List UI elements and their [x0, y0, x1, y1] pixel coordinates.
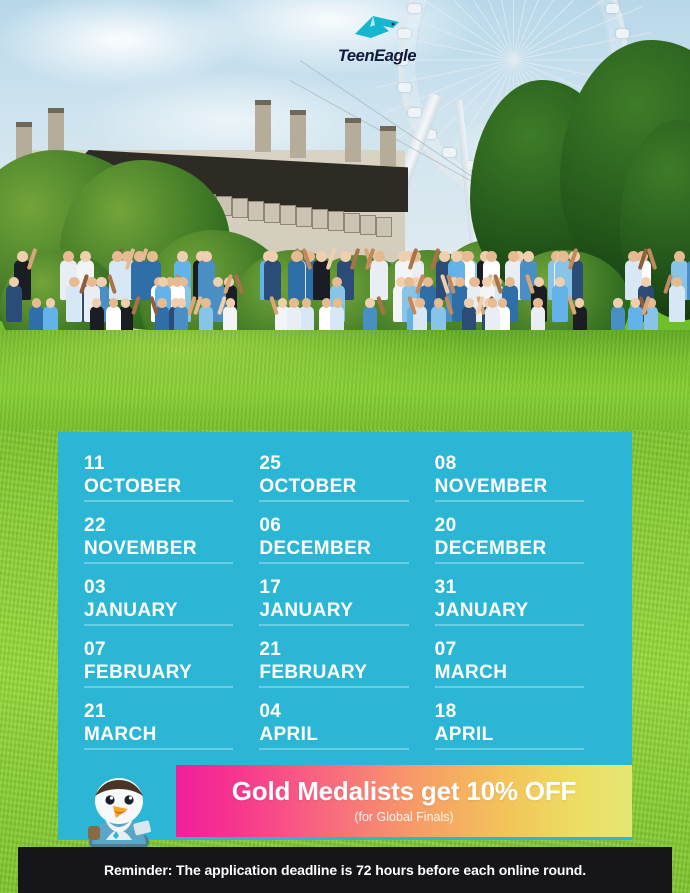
person: [66, 258, 83, 322]
date-day: 25: [259, 454, 434, 474]
date-separator: [84, 562, 233, 564]
promo-banner: Gold Medalists get 10% OFF (for Global F…: [176, 765, 632, 837]
chimney: [380, 126, 396, 166]
date-day: 20: [435, 516, 610, 536]
date-month: APRIL: [259, 724, 434, 746]
date-month: OCTOBER: [259, 476, 434, 498]
promo-subtitle: (for Global Finals): [354, 810, 453, 824]
schedule-date-cell: 04APRIL: [259, 696, 434, 758]
reminder-bar: Reminder: The application deadline is 72…: [18, 847, 672, 893]
date-separator: [435, 686, 584, 688]
date-month: FEBRUARY: [84, 662, 259, 684]
schedule-date-cell: 08NOVEMBER: [435, 448, 610, 510]
date-month: DECEMBER: [435, 538, 610, 560]
date-day: 07: [84, 640, 259, 660]
date-day: 03: [84, 578, 259, 598]
crowd-of-students: [0, 222, 690, 340]
date-separator: [259, 500, 408, 502]
eagle-mascot-icon: [76, 766, 162, 854]
date-month: MARCH: [84, 724, 259, 746]
schedule-date-cell: 21FEBRUARY: [259, 634, 434, 696]
date-month: JANUARY: [259, 600, 434, 622]
date-separator: [84, 500, 233, 502]
date-month: DECEMBER: [259, 538, 434, 560]
person: [6, 258, 23, 322]
date-separator: [435, 500, 584, 502]
date-separator: [84, 686, 233, 688]
schedule-date-cell: 31JANUARY: [435, 572, 610, 634]
date-month: JANUARY: [435, 600, 610, 622]
schedule-date-cell: 17JANUARY: [259, 572, 434, 634]
schedule-date-cell: 22NOVEMBER: [84, 510, 259, 572]
person: [131, 230, 149, 300]
schedule-date-cell: 07FEBRUARY: [84, 634, 259, 696]
date-separator: [259, 748, 408, 750]
schedule-panel: 11OCTOBER25OCTOBER08NOVEMBER22NOVEMBER06…: [58, 432, 632, 764]
date-month: APRIL: [435, 724, 610, 746]
poster-root: TeenEagle 11OCTOBER25OCTOBER08NOVEMBER22…: [0, 0, 690, 893]
promo-title: Gold Medalists get 10% OFF: [232, 778, 576, 804]
schedule-date-cell: 25OCTOBER: [259, 448, 434, 510]
date-day: 11: [84, 454, 259, 474]
chimney: [290, 110, 306, 158]
date-day: 22: [84, 516, 259, 536]
date-separator: [84, 748, 233, 750]
brand-name: TeenEagle: [322, 47, 432, 66]
date-separator: [435, 624, 584, 626]
date-separator: [435, 748, 584, 750]
date-day: 21: [84, 702, 259, 722]
date-separator: [259, 562, 408, 564]
dormer-window: [248, 201, 264, 221]
brand-logo: TeenEagle: [322, 14, 432, 66]
date-month: FEBRUARY: [259, 662, 434, 684]
schedule-date-cell: 03JANUARY: [84, 572, 259, 634]
date-day: 06: [259, 516, 434, 536]
date-day: 18: [435, 702, 610, 722]
date-day: 08: [435, 454, 610, 474]
schedule-date-cell: 20DECEMBER: [435, 510, 610, 572]
eagle-mark-icon: [353, 14, 401, 40]
hero-photo: TeenEagle: [0, 0, 690, 430]
date-separator: [84, 624, 233, 626]
schedule-date-cell: 21MARCH: [84, 696, 259, 758]
schedule-date-cell: 18APRIL: [435, 696, 610, 758]
person: [552, 258, 569, 322]
schedule-date-cell: 11OCTOBER: [84, 448, 259, 510]
dormer-window: [264, 203, 280, 223]
photo-grass: [0, 330, 690, 430]
date-month: NOVEMBER: [84, 538, 259, 560]
date-day: 17: [259, 578, 434, 598]
person: [669, 258, 686, 322]
schedule-grid: 11OCTOBER25OCTOBER08NOVEMBER22NOVEMBER06…: [58, 432, 632, 764]
date-month: NOVEMBER: [435, 476, 610, 498]
schedule-date-cell: 06DECEMBER: [259, 510, 434, 572]
date-separator: [435, 562, 584, 564]
date-month: MARCH: [435, 662, 610, 684]
chimney: [255, 100, 271, 152]
date-day: 07: [435, 640, 610, 660]
dormer-window: [232, 198, 248, 218]
date-separator: [259, 624, 408, 626]
date-month: JANUARY: [84, 600, 259, 622]
date-day: 21: [259, 640, 434, 660]
chimney: [345, 118, 361, 162]
reminder-text: Reminder: The application deadline is 72…: [104, 862, 586, 878]
schedule-date-cell: 07MARCH: [435, 634, 610, 696]
date-month: OCTOBER: [84, 476, 259, 498]
chimney: [48, 108, 64, 154]
date-separator: [259, 686, 408, 688]
date-day: 31: [435, 578, 610, 598]
date-day: 04: [259, 702, 434, 722]
